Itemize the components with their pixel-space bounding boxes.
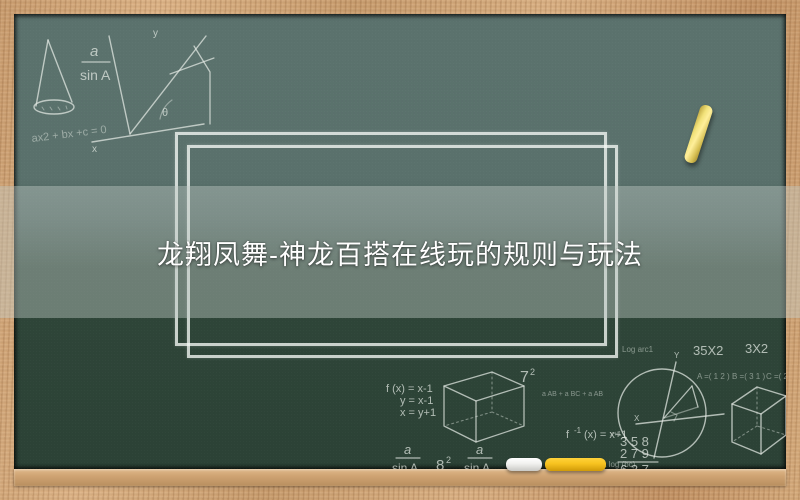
svg-text:a AB + a BC + a AB: a AB + a BC + a AB	[542, 391, 603, 398]
svg-text:a log (bc): a log (bc)	[602, 460, 636, 469]
side-equation: a AB + a BC + a AB	[542, 391, 603, 398]
function-equations: f (x) = x-1 y = x-1 x = y+1	[386, 383, 436, 419]
svg-text:6 3 7: 6 3 7	[620, 462, 649, 469]
svg-text:X: X	[634, 414, 640, 423]
svg-text:3X2: 3X2	[745, 341, 768, 356]
quadratic-formula: ax2 + bx +c = 0	[31, 124, 107, 145]
svg-text:θ: θ	[162, 107, 168, 119]
svg-text:B =( 3 1 ): B =( 3 1 )	[732, 372, 765, 381]
svg-text:3 5 8: 3 5 8	[620, 434, 649, 449]
svg-text:x: x	[92, 144, 97, 155]
svg-text:7: 7	[520, 369, 529, 386]
svg-text:f (x) = x-1: f (x) = x-1	[386, 383, 433, 395]
circle-geometry-drawing: Y X	[618, 351, 724, 458]
svg-text:-1: -1	[574, 426, 582, 435]
svg-text:f: f	[566, 429, 570, 441]
svg-text:a: a	[90, 43, 98, 60]
svg-text:Log arc1: Log arc1	[622, 345, 654, 354]
cone-drawing	[34, 40, 74, 114]
log-note: a log (bc) Log arc1	[602, 345, 654, 469]
svg-text:35X2: 35X2	[693, 343, 723, 358]
svg-text:8: 8	[436, 457, 444, 469]
chalk-tray	[14, 469, 786, 486]
svg-text:Y: Y	[674, 351, 680, 360]
svg-text:a: a	[404, 442, 411, 457]
law-of-sines-formula-bottom-left: a sin A	[392, 442, 420, 469]
svg-text:y: y	[153, 28, 158, 39]
svg-text:x+1: x+1	[610, 431, 622, 438]
svg-text:(x) = x+1: (x) = x+1	[584, 429, 627, 441]
power-eight: 8 2	[436, 455, 451, 469]
chalkboard-banner: a sin A ax2 + bx +c = 0 y x	[0, 0, 800, 500]
yellow-chalk-stick-top	[683, 103, 714, 164]
svg-text:ax2 + bx +c = 0: ax2 + bx +c = 0	[31, 124, 107, 145]
svg-text:y = x-1: y = x-1	[400, 395, 433, 407]
cube-drawing-left	[444, 372, 524, 442]
svg-text:2 7 9: 2 7 9	[620, 446, 649, 461]
svg-text:sin A: sin A	[80, 67, 111, 83]
svg-text:sin A: sin A	[392, 461, 418, 469]
svg-text:A =( 1 2 ): A =( 1 2 )	[697, 372, 730, 381]
white-chalk-stick-tray	[506, 458, 542, 471]
law-of-sines-formula-top: a sin A	[80, 43, 111, 83]
banner-title: 龙翔凤舞-神龙百搭在线玩的规则与玩法	[0, 186, 800, 318]
yellow-chalk-stick-tray	[545, 458, 606, 471]
multiplication-notes: 35X2 3X2	[693, 341, 768, 358]
power-seven: 7 2	[520, 367, 535, 386]
svg-text:C =( 2 4 ): C =( 2 4 )	[766, 372, 786, 381]
matrix-notes: A =( 1 2 ) B =( 3 1 ) C =( 2 4 )	[697, 372, 786, 381]
svg-text:sin A: sin A	[464, 461, 490, 469]
law-of-sines-formula-bottom-center: a sin A	[464, 442, 492, 469]
cube-drawing-right	[732, 387, 786, 454]
vertical-addition: x+1 3 5 8 2 7 9 6 3 7	[610, 431, 658, 469]
svg-text:2: 2	[530, 367, 535, 377]
svg-text:a: a	[476, 442, 483, 457]
inverse-function-equation: f -1 (x) = x+1	[566, 426, 627, 441]
svg-text:2: 2	[446, 455, 451, 465]
svg-text:x = y+1: x = y+1	[400, 407, 436, 419]
